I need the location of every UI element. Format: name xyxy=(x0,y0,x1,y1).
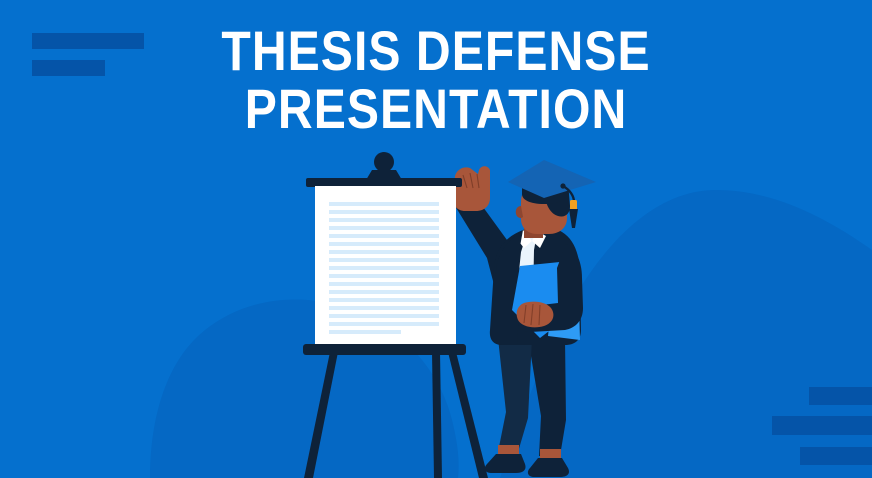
deco-bar-bottom-right-2 xyxy=(772,416,872,435)
deco-bar-top-left-short xyxy=(32,60,105,76)
easel-paper-text-line-last xyxy=(329,330,401,334)
leg-back xyxy=(528,338,566,456)
easel-leg-left xyxy=(304,352,338,478)
leg-front xyxy=(498,338,532,452)
easel-leg-right xyxy=(448,352,488,478)
easel-top-rail xyxy=(306,178,462,187)
easel-leg-center xyxy=(432,352,442,478)
character-student xyxy=(485,160,596,477)
easel-bottom-rail xyxy=(303,344,466,355)
easel-legs xyxy=(304,352,488,478)
cap-mortarboard xyxy=(508,160,596,198)
easel-paper-text-lines xyxy=(329,202,439,334)
easel-board xyxy=(303,152,466,355)
cap-tassel-bead xyxy=(570,200,577,210)
illustration-student-presenting xyxy=(0,0,872,478)
slide-canvas: THESIS DEFENSE PRESENTATION xyxy=(0,0,872,478)
cap-tassel xyxy=(569,209,578,228)
ankle-back xyxy=(540,449,561,458)
easel-top-knob xyxy=(374,152,394,172)
easel-paper-sheet xyxy=(315,186,456,344)
deco-bar-top-left-long xyxy=(32,33,144,49)
shoe-back xyxy=(528,458,569,477)
deco-bar-bottom-right-3 xyxy=(800,447,872,465)
hand-holding-folder xyxy=(517,302,554,328)
deco-bar-bottom-right-1 xyxy=(809,387,872,405)
shoe-front xyxy=(485,454,526,473)
ankle-front xyxy=(498,445,519,454)
hand-raised xyxy=(452,166,490,211)
